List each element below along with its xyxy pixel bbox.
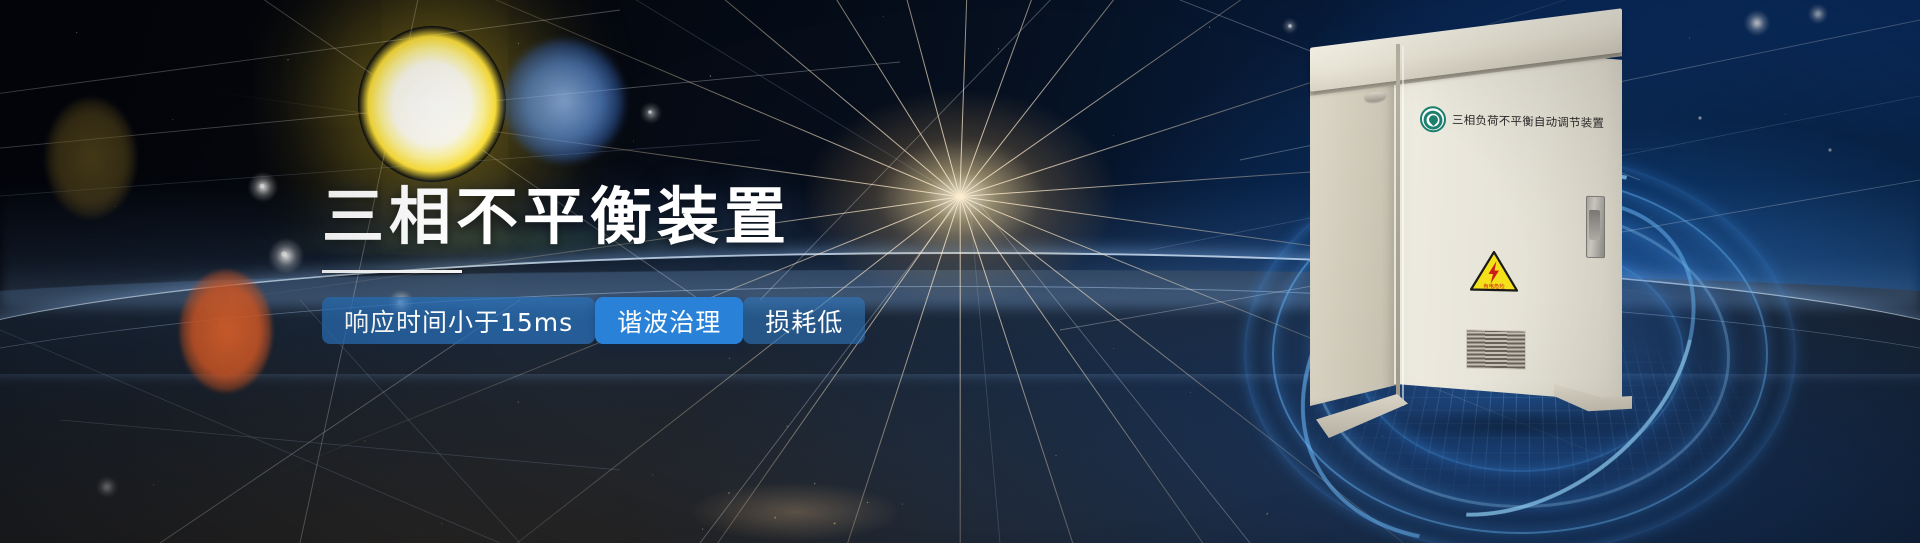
- cabinet-door-seam: [1396, 44, 1400, 406]
- light-spark: [268, 238, 304, 274]
- cabinet-side-panel: [1310, 58, 1396, 406]
- light-spark: [1808, 4, 1828, 24]
- bokeh-light-olive: [44, 96, 138, 220]
- feature-tag-list: 响应时间小于15ms 谐波治理 损耗低: [322, 297, 942, 344]
- light-spark: [1744, 10, 1770, 36]
- cabinet-brand-plate: 三相负荷不平衡自动调节装置: [1414, 104, 1606, 138]
- cabinet-door-seam-highlight: [1402, 46, 1404, 406]
- door-handle-grip: [1589, 210, 1600, 240]
- page-title: 三相不平衡装置: [322, 186, 942, 248]
- product-cabinet: 三相负荷不平衡自动调节装置 有电危险: [1310, 28, 1710, 428]
- light-spark: [96, 476, 118, 498]
- title-divider: [322, 270, 462, 273]
- bokeh-light-blue: [500, 36, 628, 166]
- cabinet-plate-text: 三相负荷不平衡自动调节装置: [1452, 112, 1604, 131]
- product-hero-banner: 三相负荷不平衡自动调节装置 有电危险 三相不平衡装置 响应时间小于15ms 谐波…: [0, 0, 1920, 543]
- bokeh-light-white-yellow: [358, 26, 506, 182]
- light-spark: [248, 172, 278, 202]
- light-spark: [1282, 18, 1298, 34]
- feature-tag-response-time[interactable]: 响应时间小于15ms: [322, 297, 595, 344]
- bokeh-light-orange: [178, 268, 274, 394]
- banner-copy-block: 三相不平衡装置 响应时间小于15ms 谐波治理 损耗低: [322, 186, 942, 344]
- city-light-cluster: [630, 455, 960, 543]
- electrical-hazard-triangle-icon: 有电危险: [1470, 249, 1518, 292]
- circular-leaf-logo-icon: [1420, 106, 1446, 133]
- light-spark: [640, 102, 662, 124]
- feature-tag-low-loss[interactable]: 损耗低: [743, 297, 865, 344]
- feature-tag-harmonic[interactable]: 谐波治理: [595, 297, 743, 344]
- vent-grille-icon: [1466, 329, 1526, 369]
